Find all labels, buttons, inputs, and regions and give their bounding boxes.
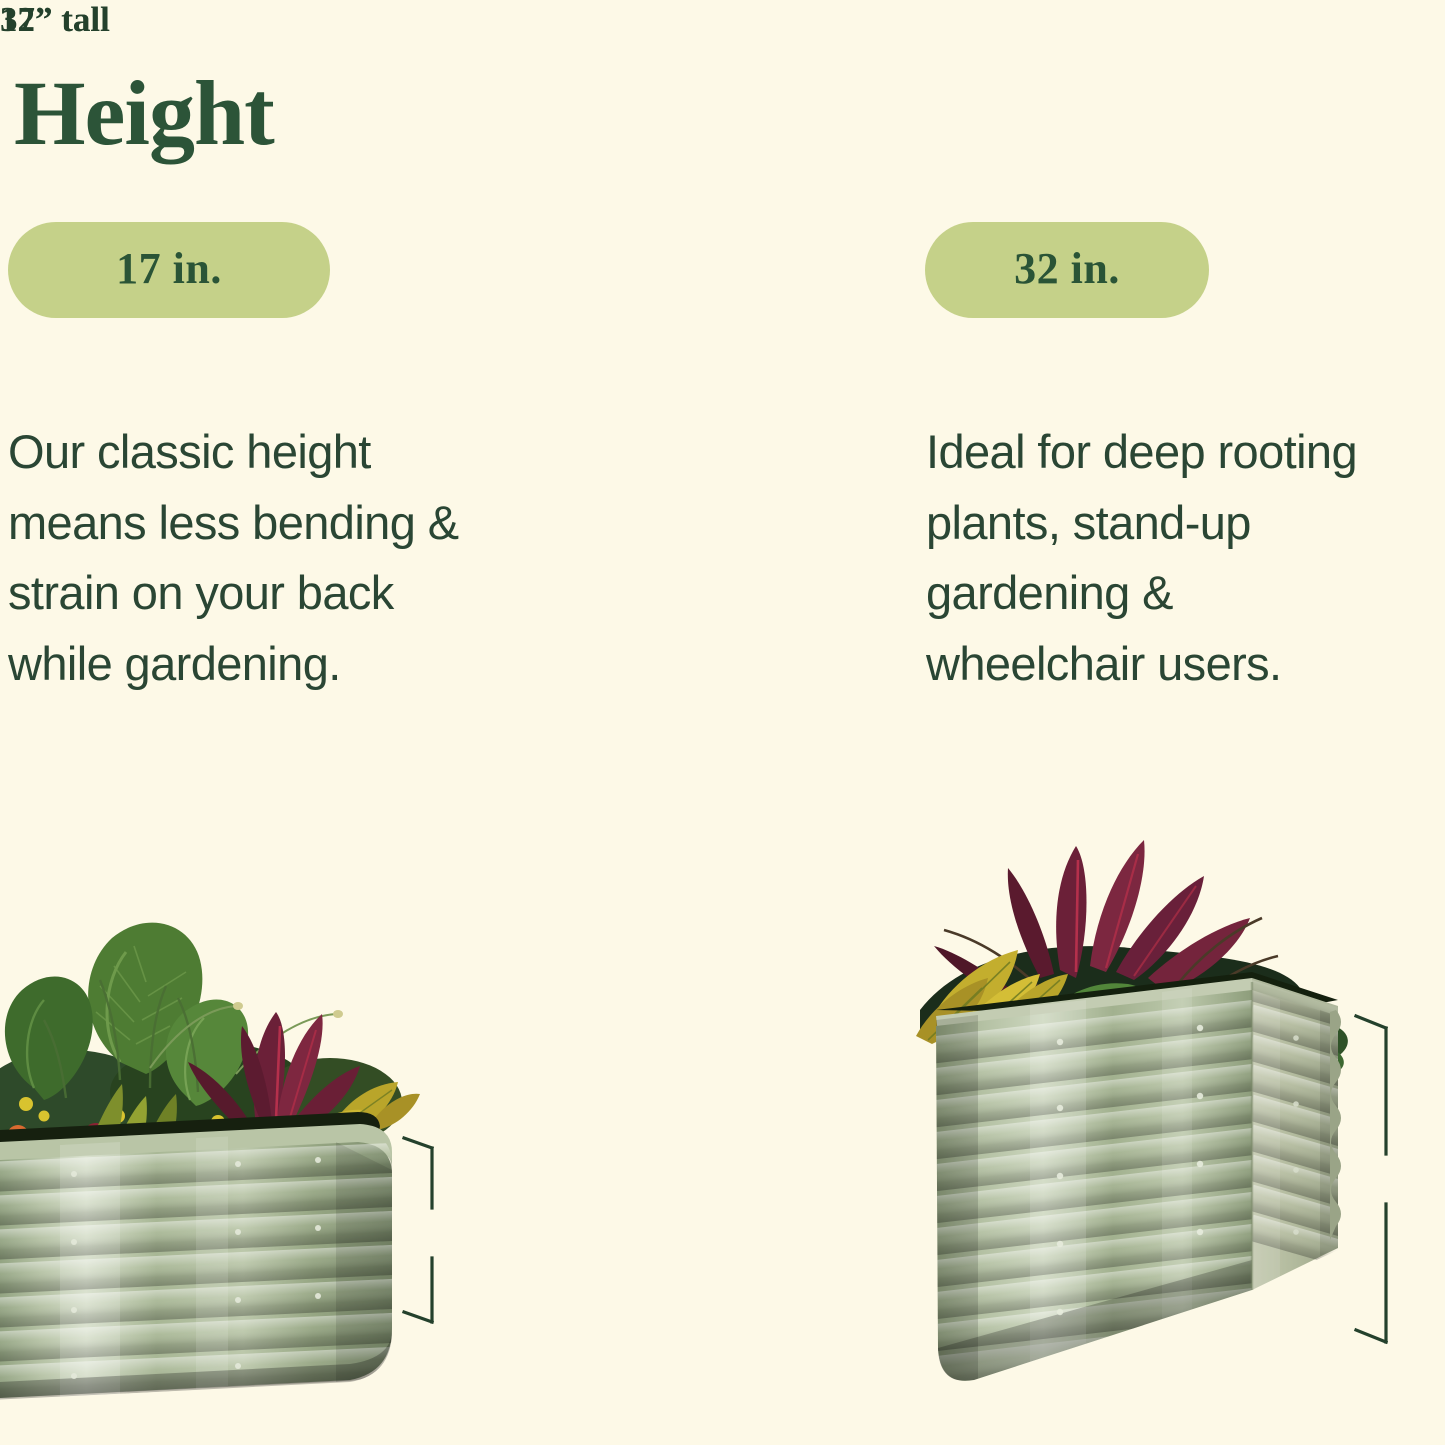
- product-photo-32-inch: [900, 820, 1350, 1420]
- height-badge-17: 17 in.: [8, 222, 330, 318]
- dimension-callout-32: [1352, 1012, 1445, 1362]
- product-photo-17-inch: [0, 830, 420, 1405]
- dimension-callout-17: [398, 1130, 528, 1340]
- badge-label: 32 in.: [1014, 247, 1120, 294]
- planter-body-32: [919, 972, 1349, 1390]
- planter-body-17: [0, 1112, 411, 1400]
- description-32: Ideal for deep rooting plants, stand-up …: [926, 417, 1396, 699]
- badge-label: 17 in.: [116, 247, 222, 294]
- height-comparison-page: Height 17 in. Our classic height means l…: [0, 0, 1445, 1445]
- height-badge-32: 32 in.: [925, 222, 1209, 318]
- description-17: Our classic height means less bending & …: [8, 417, 463, 699]
- dimension-label-32: 32” tall: [0, 0, 110, 40]
